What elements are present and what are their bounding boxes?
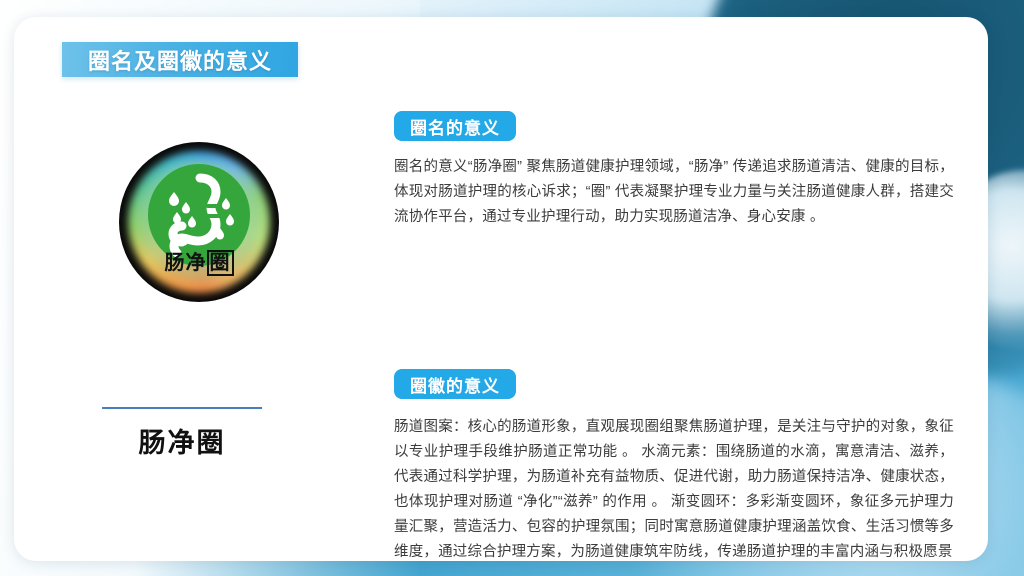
section-body-circle-logo: 肠道图案：核心的肠道形象，直观展现圈组聚焦肠道护理，是关注与守护的对象，象征以专… — [394, 415, 954, 561]
logo-emblem-char-2: 净 — [186, 252, 207, 274]
section-heading-circle-logo: 圈徽的意义 — [394, 369, 516, 399]
section-circle-logo-meaning: 圈徽的意义 肠道图案：核心的肠道形象，直观展现圈组聚焦肠道护理，是关注与守护的对… — [394, 369, 954, 561]
logo-emblem-char-1: 肠 — [165, 252, 186, 274]
logo-caption: 肠净圈 — [102, 421, 262, 460]
logo-emblem-char-3: 圈 — [207, 250, 234, 276]
page-title-banner: 圈名及圈徽的意义 — [62, 42, 298, 77]
section-circle-name-meaning: 圈名的意义 圈名的意义“肠净圈” 聚焦肠道健康护理领域，“肠净” 传递追求肠道清… — [394, 111, 954, 230]
section-heading-circle-name: 圈名的意义 — [394, 111, 516, 141]
page-title: 圈名及圈徽的意义 — [88, 44, 272, 76]
section-body-circle-name: 圈名的意义“肠净圈” 聚焦肠道健康护理领域，“肠净” 传递追求肠道清洁、健康的目… — [394, 155, 954, 230]
left-divider-line — [102, 407, 262, 409]
slide-root: 圈名及圈徽的意义 — [0, 0, 1024, 576]
content-card: 圈名及圈徽的意义 — [14, 17, 988, 561]
logo-emblem-text: 肠净圈 — [119, 246, 279, 275]
circle-logo: 肠净圈 — [119, 142, 279, 302]
